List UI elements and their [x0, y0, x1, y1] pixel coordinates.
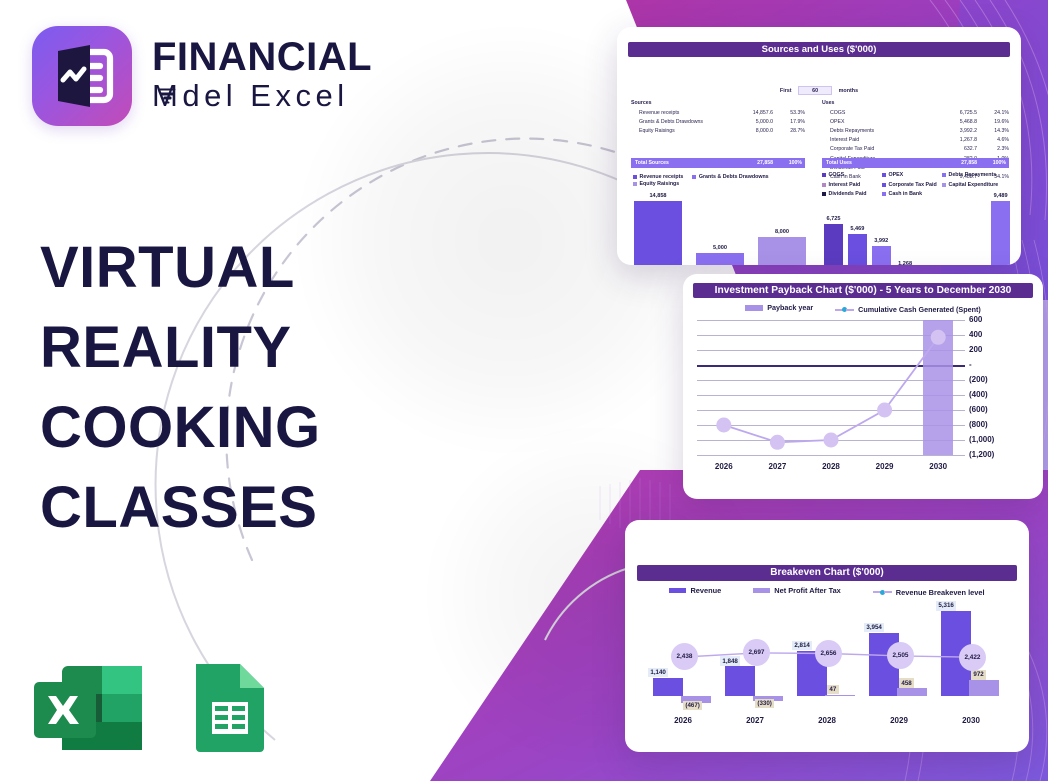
panel-investment-payback[interactable]: Investment Payback Chart ($'000) - 5 Yea…	[683, 274, 1043, 499]
legend-label: Revenue receipts	[640, 174, 684, 180]
sources-heading: Sources	[631, 100, 805, 106]
row-label: Debts Repayments	[822, 127, 931, 136]
row-value: 5,468.8	[931, 118, 977, 127]
brand-m-letter: M	[152, 77, 182, 116]
x-axis-tick-label: 2028	[791, 716, 863, 725]
logo-glyph	[32, 26, 132, 126]
legend-item: OPEX	[882, 172, 942, 178]
breakeven-chart-legend: RevenueNet Profit After TaxRevenue Break…	[625, 586, 1029, 597]
bar-column: 3,992	[872, 189, 891, 265]
legend-item: Payback year	[745, 303, 813, 312]
row-label: Grants & Debts Drawdowns	[631, 118, 727, 127]
legend-swatch	[882, 183, 886, 187]
uses-bar-chart: 6,7255,4693,9921,26863328209,489	[824, 189, 1010, 265]
legend-label: Grants & Debts Drawdowns	[699, 174, 769, 180]
row-value: 8,000.0	[727, 127, 773, 136]
row-label: Corporate Tax Paid	[822, 145, 931, 154]
legend-swatch	[882, 173, 886, 177]
bar	[758, 237, 806, 265]
bar	[848, 234, 867, 265]
bar-value-label: 3,992	[874, 238, 888, 244]
headline-line-4: CLASSES	[40, 468, 440, 548]
row-value: 14,857.6	[727, 109, 773, 118]
row-pct: 28.7%	[773, 127, 805, 136]
bar-value-label: 14,858	[649, 193, 666, 199]
table-row: Grants & Debts Drawdowns 5,000.0 17.9%	[631, 118, 805, 127]
legend-swatch	[633, 175, 637, 179]
panel-sources-and-uses[interactable]: Sources and Uses ($'000) First 60 months…	[617, 27, 1021, 265]
months-prefix-label: First	[780, 88, 792, 94]
legend-swatch	[822, 183, 826, 187]
row-pct: 2.3%	[977, 145, 1009, 154]
legend-item: Revenue receipts	[633, 174, 683, 180]
legend-item: Capital Expenditure	[942, 182, 1002, 188]
bar	[991, 201, 1010, 265]
bar-column: 1,268	[896, 189, 915, 265]
y-axis-tick-label: -	[969, 360, 972, 369]
table-row: OPEX 5,468.8 19.6%	[822, 118, 1009, 127]
breakeven-x-axis-labels: 20262027202820292030	[647, 716, 1007, 725]
row-label: OPEX	[822, 118, 931, 127]
breakeven-title: Breakeven Chart ($'000)	[637, 565, 1017, 581]
y-axis-tick-label: 400	[969, 330, 982, 339]
legend-swatch	[633, 182, 637, 186]
legend-swatch	[942, 183, 946, 187]
x-axis-tick-label: 2027	[751, 462, 805, 471]
row-label: Interest Paid	[822, 136, 931, 145]
table-row: Debts Repayments 3,992.2 14.3%	[822, 127, 1009, 136]
legend-label: Corporate Tax Paid	[889, 182, 937, 188]
payback-plot-area	[697, 320, 965, 455]
y-axis-tick-label: (1,200)	[969, 450, 994, 459]
total-uses-row: Total Uses 27,858 100%	[822, 158, 1009, 168]
x-axis-tick-label: 2026	[697, 462, 751, 471]
headline-line-2: REALITY	[40, 308, 440, 388]
row-label: COGS	[822, 109, 931, 118]
legend-label: Net Profit After Tax	[774, 586, 841, 595]
legend-label: OPEX	[889, 172, 904, 178]
row-value: 632.7	[931, 145, 977, 154]
bar-value-label: 5,000	[713, 245, 727, 251]
legend-swatch	[822, 173, 826, 177]
table-row: Revenue receipts 14,857.6 53.3%	[631, 109, 805, 118]
bar-column: 5,469	[848, 189, 867, 265]
legend-item: Net Profit After Tax	[753, 586, 841, 595]
row-label: Equity Raisings	[631, 127, 727, 136]
payback-x-axis-labels: 20262027202820292030	[697, 462, 965, 471]
sources-table: Sources Revenue receipts 14,857.6 53.3% …	[631, 100, 805, 136]
table-row: Equity Raisings 8,000.0 28.7%	[631, 127, 805, 136]
total-sources-row: Total Sources 27,858 100%	[631, 158, 805, 168]
uses-table: Uses COGS 6,725.5 24.1% OPEX 5,468.8 19.…	[822, 100, 1009, 182]
payback-title: Investment Payback Chart ($'000) - 5 Yea…	[693, 283, 1033, 298]
total-pct: 100%	[773, 160, 805, 166]
x-axis-tick-label: 2027	[719, 716, 791, 725]
legend-swatch	[942, 173, 946, 177]
page-title: VIRTUAL REALITY COOKING CLASSES	[40, 228, 440, 548]
row-label: Revenue receipts	[631, 109, 727, 118]
panel-breakeven[interactable]: Breakeven Chart ($'000) RevenueNet Profi…	[625, 520, 1029, 752]
google-sheets-icon	[188, 660, 270, 756]
y-axis-tick-label: 600	[969, 315, 982, 324]
y-axis-tick-label: 200	[969, 345, 982, 354]
hamburger-bars-icon	[159, 89, 176, 104]
legend-label: Revenue	[690, 586, 721, 595]
row-pct: 19.6%	[977, 118, 1009, 127]
legend-item: Revenue	[669, 586, 721, 595]
legend-swatch	[753, 588, 770, 593]
legend-item: Debts Repayments	[942, 172, 1002, 178]
payback-y-axis-labels: 600400200-(200)(400)(600)(800)(1,000)(1,…	[969, 320, 1037, 455]
x-axis-tick-label: 2029	[863, 716, 935, 725]
breakeven-level-bubble: 2,422	[959, 644, 986, 671]
brand-lockup: FINANCIAL M del Excel	[32, 26, 372, 126]
table-row: Corporate Tax Paid 632.7 2.3%	[822, 145, 1009, 154]
bar	[696, 253, 744, 265]
legend-item: COGS	[822, 172, 882, 178]
gridline	[697, 455, 965, 456]
sources-uses-title: Sources and Uses ($'000)	[628, 42, 1010, 57]
x-axis-tick-label: 2030	[911, 462, 965, 471]
table-row: COGS 6,725.5 24.1%	[822, 109, 1009, 118]
legend-item: Equity Raisings	[633, 181, 679, 187]
poster-canvas: FINANCIAL M del Excel VIRTUAL REALITY CO…	[0, 0, 1048, 781]
legend-line-swatch	[873, 590, 892, 595]
bar-column: 8,000	[758, 189, 806, 265]
bar-column: 5,000	[696, 189, 744, 265]
left-content-column: FINANCIAL M del Excel VIRTUAL REALITY CO…	[0, 0, 470, 781]
uses-heading: Uses	[822, 100, 1009, 106]
bar-value-label: 6,725	[826, 216, 840, 222]
legend-label: Cumulative Cash Generated (Spent)	[858, 305, 981, 314]
legend-line-swatch	[835, 307, 854, 312]
sources-chart-legend: Revenue receiptsGrants & Debts Drawdowns…	[633, 174, 813, 188]
x-axis-tick-label: 2030	[935, 716, 1007, 725]
legend-item: Cumulative Cash Generated (Spent)	[835, 305, 981, 314]
legend-item: Revenue Breakeven level	[873, 588, 985, 597]
breakeven-plot-area: 1,140(467)1,848(330)2,814473,9544585,316…	[647, 602, 1007, 710]
format-icons	[30, 660, 270, 756]
bar-column: 6,725	[824, 189, 843, 265]
brand-name-primary: FINANCIAL	[152, 37, 372, 77]
legend-label: Revenue Breakeven level	[896, 588, 985, 597]
row-pct: 53.3%	[773, 109, 805, 118]
brand-name-secondary-rest: del Excel	[182, 77, 348, 116]
breakeven-level-bubble: 2,656	[815, 640, 842, 667]
legend-label: Debts Repayments	[949, 172, 997, 178]
brand-name-secondary: M del Excel	[152, 77, 372, 116]
total-pct: 100%	[977, 160, 1009, 166]
row-value: 3,992.2	[931, 127, 977, 136]
row-pct: 17.9%	[773, 118, 805, 127]
legend-label: Payback year	[767, 303, 813, 312]
row-pct: 24.1%	[977, 109, 1009, 118]
legend-item: Corporate Tax Paid	[882, 182, 942, 188]
legend-swatch	[692, 175, 696, 179]
x-axis-tick-label: 2029	[858, 462, 912, 471]
microsoft-excel-icon	[30, 660, 148, 756]
bar-column: 282	[943, 189, 962, 265]
y-axis-tick-label: (1,000)	[969, 435, 994, 444]
bar-value-label: 5,469	[850, 226, 864, 232]
bar-value-label: 1,268	[898, 261, 912, 265]
total-label: Total Sources	[631, 160, 727, 166]
legend-label: Equity Raisings	[640, 181, 680, 187]
legend-item: Interest Paid	[822, 182, 882, 188]
legend-item: Grants & Debts Drawdowns	[692, 174, 768, 180]
financial-model-excel-logo-icon	[32, 26, 132, 126]
legend-label: Interest Paid	[829, 182, 861, 188]
y-axis-tick-label: (600)	[969, 405, 988, 414]
row-value: 6,725.5	[931, 109, 977, 118]
bar	[872, 246, 891, 265]
legend-label: COGS	[829, 172, 845, 178]
table-row: Interest Paid 1,267.8 4.6%	[822, 136, 1009, 145]
months-control: First 60 months	[617, 86, 1021, 95]
headline-line-3: COOKING	[40, 388, 440, 468]
bar-value-label: 8,000	[775, 229, 789, 235]
months-suffix-label: months	[839, 88, 858, 94]
x-axis-tick-label: 2028	[804, 462, 858, 471]
brand-wordmark: FINANCIAL M del Excel	[152, 37, 372, 116]
bar-value-label: 9,489	[994, 193, 1008, 199]
months-input[interactable]: 60	[798, 86, 832, 95]
row-pct: 14.3%	[977, 127, 1009, 136]
bar-column: 633	[920, 189, 939, 265]
row-value: 5,000.0	[727, 118, 773, 127]
bar	[634, 201, 682, 265]
bar	[824, 224, 843, 265]
y-axis-tick-label: (800)	[969, 420, 988, 429]
legend-label: Capital Expenditure	[949, 182, 999, 188]
bar-column: 0	[967, 189, 986, 265]
bar-column: 9,489	[991, 189, 1010, 265]
sources-bar-chart: 14,8585,0008,000	[634, 189, 806, 265]
y-axis-tick-label: (400)	[969, 390, 988, 399]
y-axis-tick-label: (200)	[969, 375, 988, 384]
total-value: 27,858	[727, 160, 773, 166]
total-value: 27,858	[931, 160, 977, 166]
row-value: 1,267.8	[931, 136, 977, 145]
payback-chart-legend: Payback yearCumulative Cash Generated (S…	[683, 303, 1043, 314]
x-axis-tick-label: 2026	[647, 716, 719, 725]
row-pct: 4.6%	[977, 136, 1009, 145]
headline-line-1: VIRTUAL	[40, 228, 440, 308]
total-label: Total Uses	[822, 160, 931, 166]
legend-swatch	[669, 588, 686, 593]
legend-swatch	[745, 305, 763, 311]
payback-line-series	[697, 320, 965, 455]
bar-column: 14,858	[634, 189, 682, 265]
